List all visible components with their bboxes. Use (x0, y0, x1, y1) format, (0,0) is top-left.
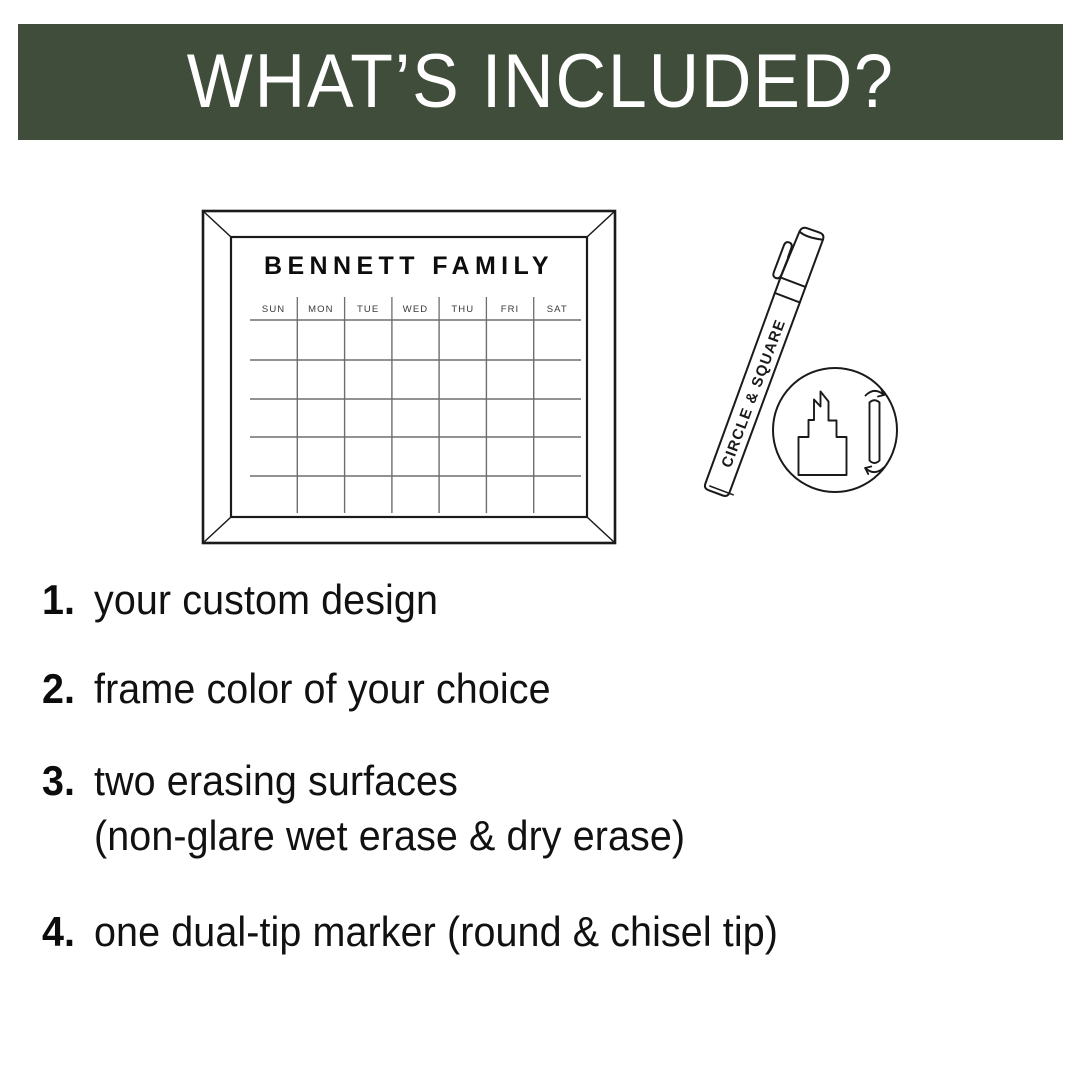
list-item-text: frame color of your choice (94, 661, 551, 716)
calendar-title: BENNETT FAMILY (264, 252, 554, 280)
day-label-tue: TUE (357, 304, 379, 315)
list-item: 2. frame color of your choice (0, 661, 1080, 716)
list-item: 1. your custom design (0, 572, 1080, 627)
list-item-text: your custom design (94, 572, 438, 627)
day-label-sat: SAT (547, 304, 568, 315)
list-item-number: 4. (42, 904, 91, 959)
list-item-number: 3. (42, 753, 91, 808)
included-graphic-page: WHAT’S INCLUDED? BENNETT FAMILY (0, 0, 1080, 1080)
day-label-mon: MON (308, 304, 333, 315)
included-items-list: 1. your custom design 2. frame color of … (0, 572, 1080, 969)
day-label-fri: FRI (501, 304, 520, 315)
list-item-text-line1: two erasing surfaces (94, 757, 458, 804)
list-item-number: 1. (42, 572, 91, 627)
list-item-text-line2: (non-glare wet erase & dry erase) (94, 808, 685, 863)
whiteboard-calendar: BENNETT FAMILY SUN MON TUE WED THU (200, 208, 618, 546)
illustration-area: BENNETT FAMILY SUN MON TUE WED THU (0, 170, 1080, 570)
day-label-sun: SUN (262, 304, 285, 315)
list-item: 4. one dual-tip marker (round & chisel t… (0, 904, 1080, 959)
header-banner: WHAT’S INCLUDED? (18, 24, 1063, 140)
list-item: 3. two erasing surfaces (non-glare wet e… (0, 753, 1080, 864)
list-item-text: two erasing surfaces (non-glare wet eras… (94, 753, 685, 864)
day-label-wed: WED (403, 304, 428, 315)
page-title: WHAT’S INCLUDED? (187, 44, 895, 120)
day-label-thu: THU (451, 304, 474, 315)
list-item-text: one dual-tip marker (round & chisel tip) (94, 904, 778, 959)
dual-tip-marker: CIRCLE & SQUARE (695, 215, 905, 515)
round-tip-icon (870, 400, 880, 463)
list-item-number: 2. (42, 661, 91, 716)
